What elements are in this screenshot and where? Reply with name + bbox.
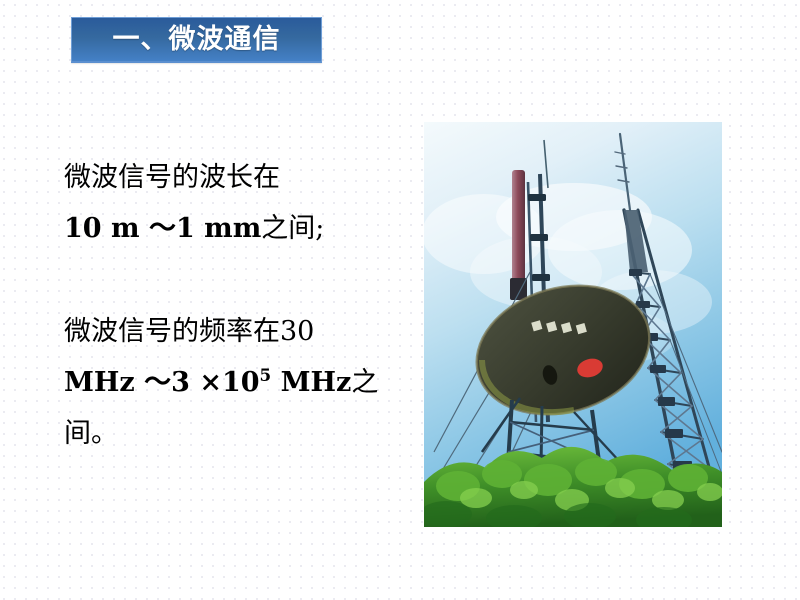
red-antenna-panel: [512, 170, 525, 288]
frequency-range-suffix: 之: [351, 367, 378, 398]
frequency-line-1: 微波信号的频率在30: [64, 306, 394, 357]
frequency-exponent: 5: [260, 365, 272, 385]
wavelength-line-1: 微波信号的波长在: [64, 152, 394, 203]
wavelength-line-2: 10 m ～1 mm之间;: [64, 203, 394, 254]
wavelength-range-value: 10 m ～1 mm: [64, 213, 261, 244]
frequency-range-prefix: MHz ～3 ×10: [64, 367, 260, 398]
tower-photo-illustration: [424, 122, 722, 527]
paragraph-wavelength: 微波信号的波长在 10 m ～1 mm之间;: [64, 152, 394, 254]
paragraph-frequency: 微波信号的频率在30 MHz ～3 ×105 MHz之 间。: [64, 306, 394, 459]
frequency-line-3: 间。: [64, 408, 394, 459]
frequency-range-unit: MHz: [271, 367, 351, 398]
wavelength-range-suffix: 之间;: [261, 213, 324, 244]
microwave-tower-photo: [424, 122, 722, 527]
slide-title-text: 一、微波通信: [113, 26, 281, 53]
frequency-line-2: MHz ～3 ×105 MHz之: [64, 357, 394, 408]
slide-title-banner: 一、微波通信: [71, 17, 322, 63]
slide-canvas: 一、微波通信 微波信号的波长在 10 m ～1 mm之间; 微波信号的频率在30…: [0, 0, 800, 600]
body-text-column: 微波信号的波长在 10 m ～1 mm之间; 微波信号的频率在30 MHz ～3…: [64, 152, 394, 459]
